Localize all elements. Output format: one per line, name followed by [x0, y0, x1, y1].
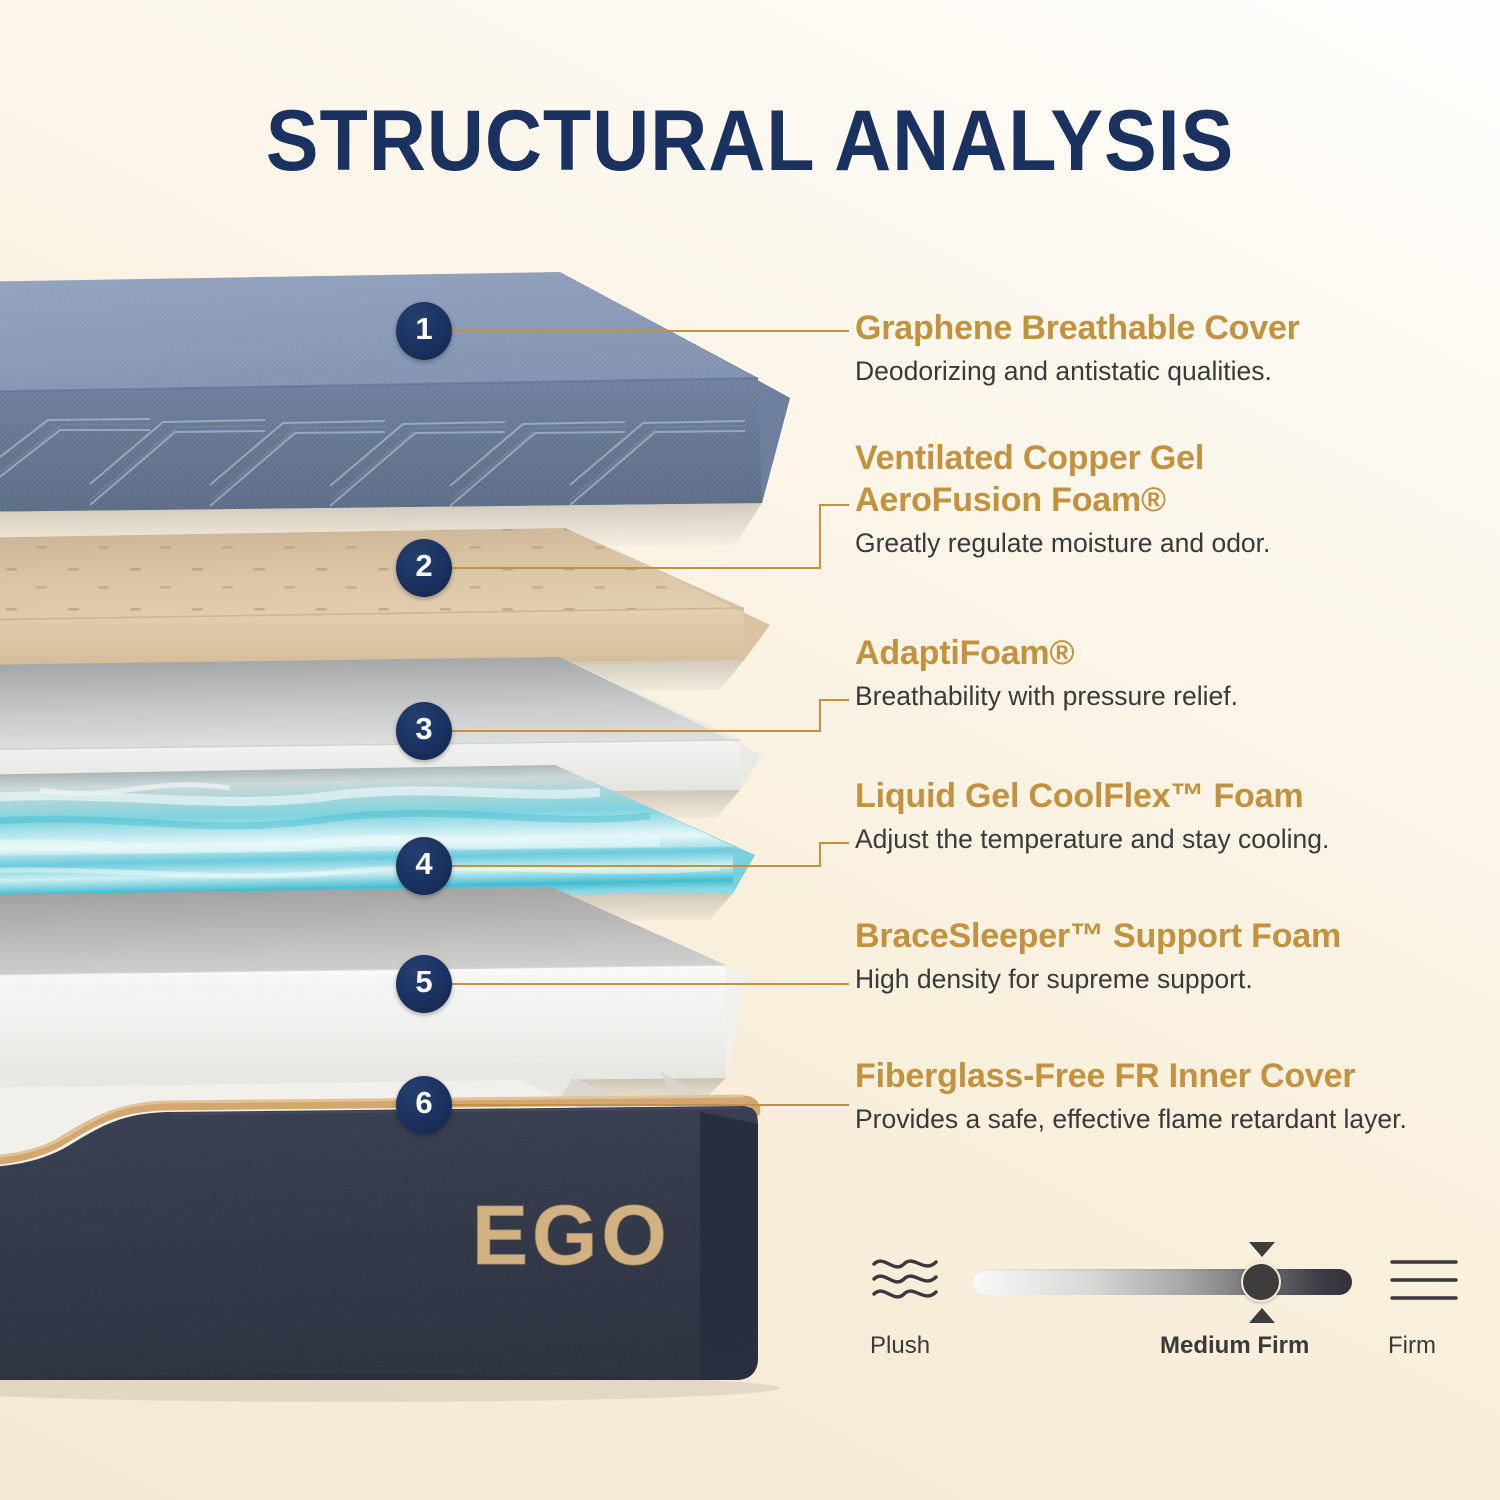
- callout-subtitle-3: Breathability with pressure relief.: [855, 679, 1238, 713]
- layer-badge-5[interactable]: 5: [396, 955, 452, 1013]
- callout-layer-4: Liquid Gel CoolFlex™ Foam Adjust the tem…: [855, 775, 1329, 856]
- callout-layer-6: Fiberglass-Free FR Inner Cover Provides …: [855, 1055, 1407, 1136]
- firmness-scale[interactable]: Plush Medium Firm Firm: [860, 1236, 1460, 1366]
- layer-badge-3[interactable]: 3: [396, 702, 452, 760]
- callout-subtitle-5: High density for supreme support.: [855, 962, 1341, 996]
- callout-title-3: AdaptiFoam®: [855, 632, 1238, 674]
- callout-title-6: Fiberglass-Free FR Inner Cover: [855, 1055, 1407, 1097]
- infographic-canvas: STRUCTURAL ANALYSIS: [0, 0, 1500, 1500]
- callout-subtitle-1: Deodorizing and antistatic qualities.: [855, 354, 1300, 388]
- layer-1-graphene-cover: [0, 272, 790, 512]
- callout-subtitle-2: Greatly regulate moisture and odor.: [855, 526, 1270, 560]
- layer-badge-6[interactable]: 6: [396, 1076, 452, 1134]
- layer-badge-2[interactable]: 2: [396, 539, 452, 597]
- callout-title-2-line2: AeroFusion Foam®: [855, 479, 1270, 521]
- firmness-label-firm: Firm: [1388, 1332, 1436, 1360]
- callout-layer-5: BraceSleeper™ Support Foam High density …: [855, 915, 1341, 996]
- callout-title-5: BraceSleeper™ Support Foam: [855, 915, 1341, 957]
- firmness-thumb[interactable]: [1241, 1262, 1281, 1302]
- callout-layer-2: Ventilated Copper Gel AeroFusion Foam® G…: [855, 437, 1270, 560]
- callout-title-2-line1: Ventilated Copper Gel: [855, 437, 1270, 479]
- layer-badge-1[interactable]: 1: [396, 302, 452, 360]
- firmness-caret-bottom-icon: [1249, 1308, 1275, 1323]
- firmness-label-selected: Medium Firm: [1160, 1332, 1309, 1360]
- firmness-label-plush: Plush: [870, 1332, 930, 1360]
- callout-layer-1: Graphene Breathable Cover Deodorizing an…: [855, 307, 1300, 388]
- layer-2-copper-gel-foam: [0, 528, 770, 668]
- layer-badge-4[interactable]: 4: [396, 837, 452, 895]
- layer-6-fr-inner-cover-base: EGO EGO: [0, 1063, 758, 1380]
- svg-text:EGO: EGO: [472, 1188, 671, 1282]
- callout-layer-3: AdaptiFoam® Breathability with pressure …: [855, 632, 1238, 713]
- callout-subtitle-6: Provides a safe, effective flame retarda…: [855, 1102, 1407, 1136]
- callout-title-1: Graphene Breathable Cover: [855, 307, 1300, 349]
- callout-subtitle-4: Adjust the temperature and stay cooling.: [855, 822, 1329, 856]
- callout-title-4: Liquid Gel CoolFlex™ Foam: [855, 775, 1329, 817]
- stacked-lines-icon: [1388, 1254, 1460, 1306]
- firmness-track[interactable]: [972, 1269, 1352, 1295]
- waves-icon: [870, 1250, 942, 1308]
- firmness-caret-top-icon: [1249, 1242, 1275, 1257]
